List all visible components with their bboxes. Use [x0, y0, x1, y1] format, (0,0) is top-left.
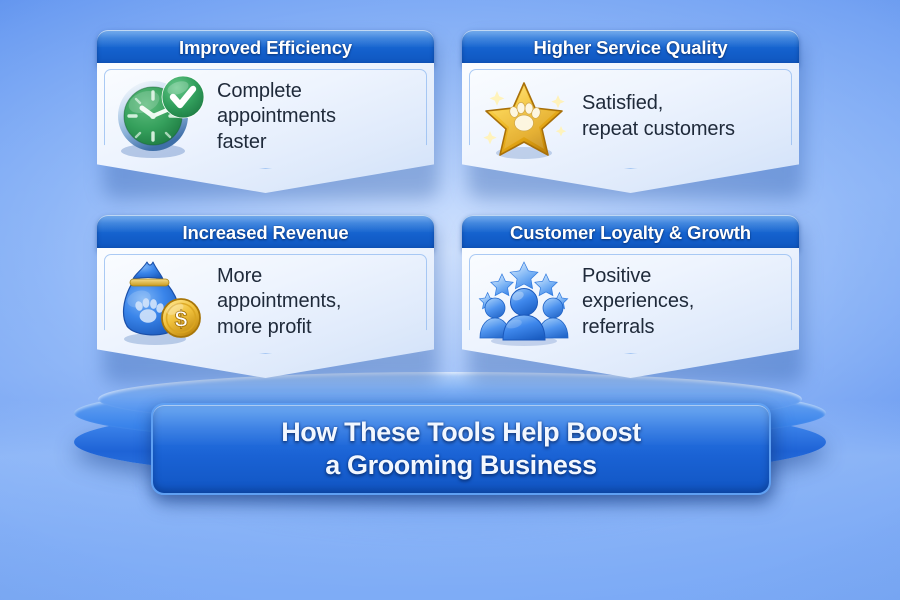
card-header: Higher Service Quality	[462, 30, 799, 66]
card-line: Complete	[217, 79, 336, 105]
gold-star-paw-icon	[476, 69, 572, 165]
card-header: Increased Revenue	[97, 215, 434, 251]
card-header: Customer Loyalty & Growth	[462, 215, 799, 251]
card-line: referrals	[582, 315, 694, 341]
headline-banner[interactable]: How These Tools Help Boost a Grooming Bu…	[151, 403, 771, 495]
card-header: Improved Efficiency	[97, 30, 434, 66]
card-line: appointments	[217, 104, 336, 130]
benefit-card-improved-efficiency[interactable]: Improved Efficiency	[97, 30, 434, 193]
card-description: More appointments, more profit	[217, 264, 341, 341]
card-description: Positive experiences, referrals	[582, 264, 694, 341]
card-title: Higher Service Quality	[533, 37, 727, 59]
card-title: Improved Efficiency	[179, 37, 352, 59]
card-title: Increased Revenue	[182, 222, 348, 244]
card-line: Satisfied,	[582, 91, 735, 117]
card-content: Positive experiences, referrals	[476, 248, 787, 356]
banner-title-line-1: How These Tools Help Boost	[281, 416, 641, 449]
people-stars-icon	[476, 254, 572, 350]
card-content: $ More appointments, more profit	[111, 248, 422, 356]
benefit-card-customer-loyalty-growth[interactable]: Customer Loyalty & Growth	[462, 215, 799, 378]
benefit-card-higher-service-quality[interactable]: Higher Service Quality	[462, 30, 799, 193]
clock-check-icon	[111, 69, 207, 165]
money-bag-paw-coin-icon: $	[111, 254, 207, 350]
card-line: appointments,	[217, 289, 341, 315]
card-line: More	[217, 264, 341, 290]
card-line: experiences,	[582, 289, 694, 315]
card-content: Satisfied, repeat customers	[476, 63, 787, 171]
benefit-card-grid: Improved Efficiency	[0, 0, 900, 395]
card-title: Customer Loyalty & Growth	[510, 222, 751, 244]
card-content: Complete appointments faster	[111, 63, 422, 171]
card-line: repeat customers	[582, 117, 735, 143]
card-line: faster	[217, 130, 336, 156]
card-line: more profit	[217, 315, 341, 341]
card-description: Complete appointments faster	[217, 79, 336, 156]
benefit-card-increased-revenue[interactable]: Increased Revenue	[97, 215, 434, 378]
banner-plate: How These Tools Help Boost a Grooming Bu…	[151, 403, 771, 495]
card-line: Positive	[582, 264, 694, 290]
banner-title-line-2: a Grooming Business	[325, 449, 596, 482]
card-description: Satisfied, repeat customers	[582, 91, 735, 142]
